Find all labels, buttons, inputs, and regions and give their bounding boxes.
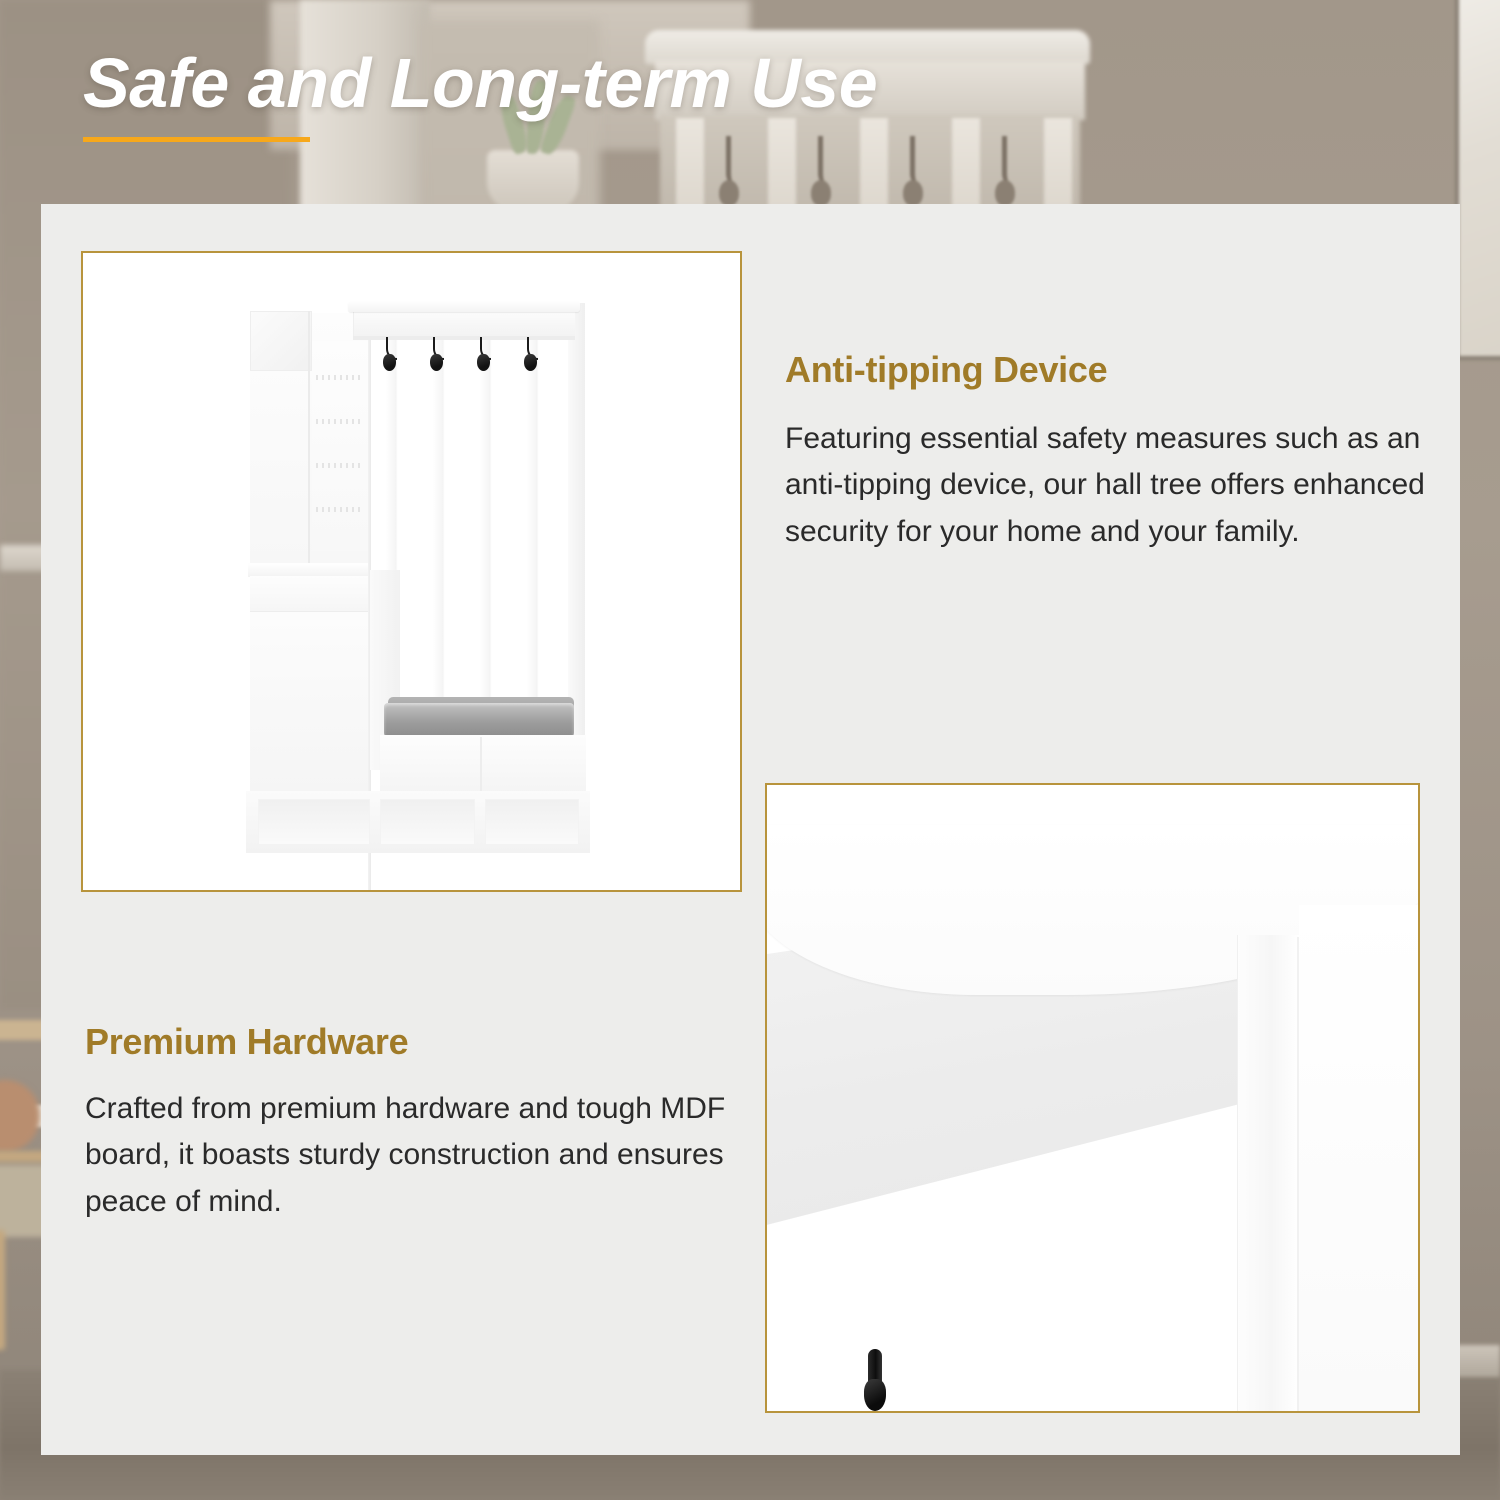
cabinet-door [250,612,368,792]
background-slat [952,118,980,218]
background-plant-pot [487,150,579,212]
page-title: Safe and Long-term Use [83,48,877,118]
coat-hook-icon [480,337,493,373]
bench-cushion [384,703,574,737]
vertical-slat [433,337,443,732]
feature-heading: Premium Hardware [85,1022,775,1062]
open-cubby [380,799,475,845]
page-title-block: Safe and Long-term Use [83,48,877,142]
vertical-slat [527,337,537,732]
top-rail [348,301,580,312]
background-hook-icon [1002,136,1011,210]
detail-image-card[interactable] [765,783,1420,1413]
coat-hook-icon [527,337,540,373]
cabinet-drawer [250,576,368,612]
background-hook-icon [726,136,735,210]
open-cubby [258,799,370,845]
open-cubby [485,799,579,845]
coat-hook-icon [386,337,399,373]
background-wall-art [1455,0,1500,360]
vertical-post [1237,935,1299,1411]
feature-block-anti-tipping: Anti-tipping Device Featuring essential … [785,350,1425,555]
background-slat [1044,118,1072,218]
feature-block-premium-hardware: Premium Hardware Crafted from premium ha… [85,1022,775,1225]
title-accent-rule [83,137,310,142]
feature-body: Featuring essential safety measures such… [785,416,1425,556]
vertical-slat [480,337,490,732]
feature-body: Crafted from premium hardware and tough … [85,1086,775,1226]
feature-heading: Anti-tipping Device [785,350,1425,390]
side-panel [1299,905,1418,1411]
hall-tree-illustration [228,273,628,873]
background-hook-icon [818,136,827,210]
coat-hook-icon [433,337,446,373]
product-image-card[interactable] [81,251,742,892]
product-image [83,253,740,890]
coat-hook-icon [864,1349,886,1411]
bench-drawers [380,735,586,795]
upper-open-shelf [250,311,312,371]
background-hook-icon [910,136,919,210]
content-panel: Anti-tipping Device Featuring essential … [41,204,1460,1455]
detail-closeup-image [767,785,1418,1411]
jewelry-organizer-panel [312,341,368,551]
